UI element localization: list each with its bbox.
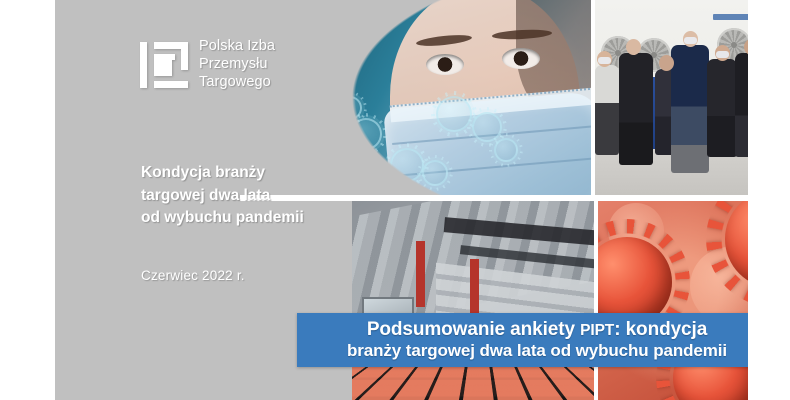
fair-signage (713, 14, 748, 20)
person-figure (671, 45, 709, 173)
pipt-logo-mark-icon (140, 40, 188, 90)
person-head (626, 39, 641, 55)
person-figure (595, 65, 619, 155)
slide-root: Polska Izba Przemysłu Targowego Kondycja… (0, 0, 790, 400)
slide-headline: Kondycja branży targowej dwa lata od wyb… (141, 162, 356, 230)
person-figure (707, 59, 737, 157)
organization-logo: Polska Izba Przemysłu Targowego (140, 38, 275, 91)
virus-icon (494, 138, 518, 162)
person-figure (735, 53, 748, 157)
eye-shape (502, 48, 540, 69)
face-mask-icon (716, 51, 729, 58)
title-tail: : kondycja (614, 319, 707, 340)
slide-date: Czerwiec 2022 r. (141, 268, 245, 283)
slide-canvas: Polska Izba Przemysłu Targowego Kondycja… (55, 0, 748, 400)
photo-gutter (591, 0, 595, 195)
trade-fair-crowd-photo (595, 0, 748, 195)
person-head (659, 55, 674, 71)
virus-icon (422, 160, 448, 186)
photo-gutter (594, 201, 598, 400)
face-mask-icon (598, 57, 611, 64)
red-column (416, 241, 425, 307)
title-banner: Podsumowanie ankiety PIPT: kondycja bran… (297, 313, 748, 367)
coronavirus-render-photo (598, 201, 748, 400)
title-lead: Podsumowanie ankiety (367, 319, 580, 340)
title-banner-line1: Podsumowanie ankiety PIPT: kondycja (367, 319, 707, 341)
exhibition-hall-photo (352, 201, 595, 400)
virus-icon (350, 118, 382, 150)
organization-name: Polska Izba Przemysłu Targowego (199, 38, 275, 91)
face-mask-icon (684, 37, 697, 44)
eye-shape (426, 54, 464, 75)
person-figure (619, 53, 653, 165)
red-column (470, 259, 479, 313)
title-banner-line2: branży targowej dwa lata od wybuchu pand… (347, 341, 727, 361)
title-acronym: PIPT (580, 322, 614, 339)
